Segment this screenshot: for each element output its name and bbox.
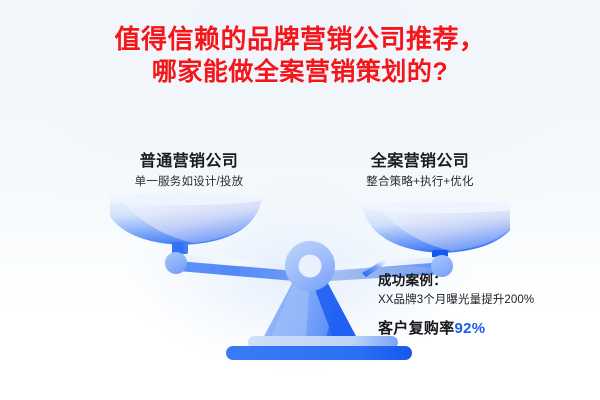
- right-pan-heading: 全案营销公司: [315, 152, 525, 172]
- callout-title: 成功案例：: [378, 272, 593, 290]
- scale-beam-left: [165, 252, 306, 282]
- right-pan-label: 全案营销公司 整合策略+执行+优化: [315, 152, 525, 190]
- callout-stat-value: 92%: [455, 320, 486, 337]
- page-title: 值得信赖的品牌营销公司推荐， 哪家能做全案营销策划的?: [0, 22, 600, 89]
- left-pan-label: 普通营销公司 单一服务如设计/投放: [84, 152, 294, 190]
- callout-stat: 客户复购率92%: [378, 317, 593, 338]
- success-case-callout: 成功案例： XX品牌3个月曝光量提升200% 客户复购率92%: [378, 272, 593, 338]
- scale-base: [226, 336, 412, 360]
- title-line-1: 值得信赖的品牌营销公司推荐，: [0, 22, 600, 56]
- left-pan-heading: 普通营销公司: [84, 152, 294, 172]
- right-pan-subtitle: 整合策略+执行+优化: [315, 175, 525, 190]
- callout-stat-label: 客户复购率: [378, 320, 455, 337]
- title-line-2: 哪家能做全案营销策划的?: [0, 56, 600, 89]
- left-scale-pan: [110, 193, 262, 254]
- poster-canvas: 值得信赖的品牌营销公司推荐， 哪家能做全案营销策划的? 普通营销公司 单一服务如…: [0, 0, 600, 400]
- callout-body: XX品牌3个月曝光量提升200%: [378, 292, 593, 308]
- scale-pivot-hub: [285, 241, 335, 291]
- right-scale-pan: [362, 201, 510, 263]
- left-pan-subtitle: 单一服务如设计/投放: [84, 175, 294, 190]
